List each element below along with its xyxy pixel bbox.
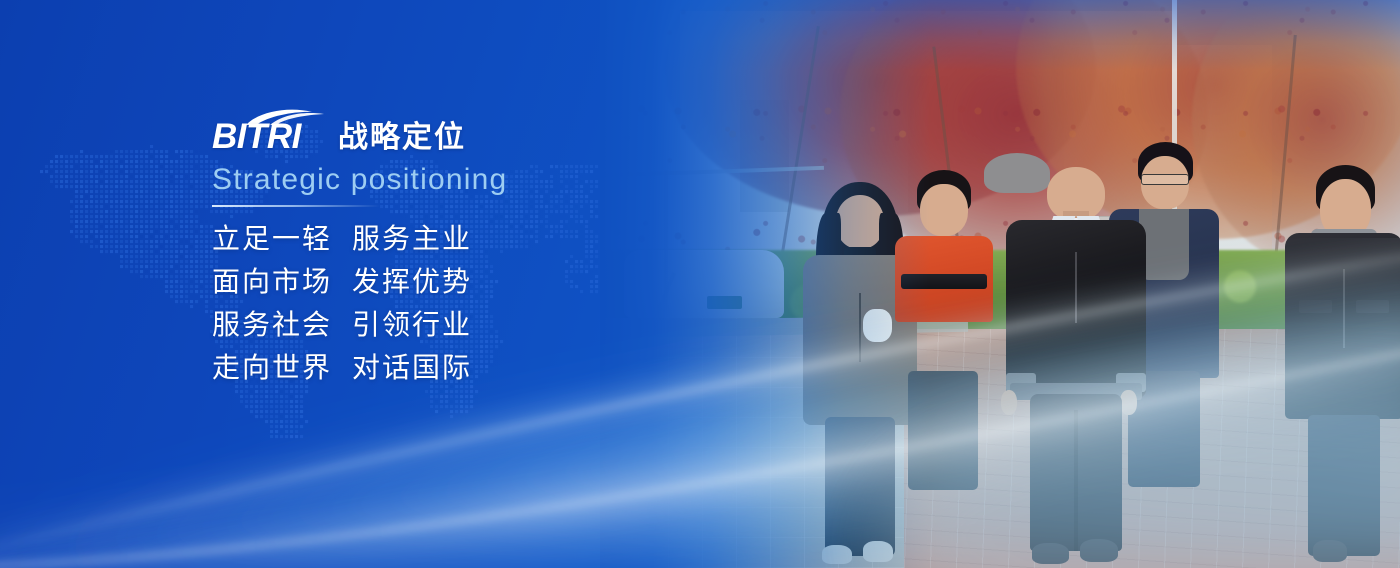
slogan-left: 立足一轻: [212, 225, 352, 253]
headline-content: BITRI 战略定位 Strategic positioning 立足一轻 服务…: [212, 108, 642, 382]
brand-lockup: BITRI 战略定位: [212, 108, 642, 154]
slogan-left: 服务社会: [212, 311, 352, 339]
slogan-right: 服务主业: [352, 225, 472, 253]
slogan-right: 对话国际: [352, 354, 472, 382]
slogan-right: 发挥优势: [352, 268, 472, 296]
slogan-line: 面向市场 发挥优势: [212, 268, 642, 296]
brand-subtitle-en: Strategic positioning: [212, 164, 642, 196]
bitri-logo: BITRI: [212, 110, 326, 154]
slogan-line: 走向世界 对话国际: [212, 354, 642, 382]
title-divider: [212, 205, 380, 207]
bitri-wordmark: BITRI: [212, 119, 301, 154]
slogan-list: 立足一轻 服务主业 面向市场 发挥优势 服务社会 引领行业 走向世界 对话国际: [212, 225, 642, 382]
slogan-line: 服务社会 引领行业: [212, 311, 642, 339]
slogan-right: 引领行业: [352, 311, 472, 339]
brand-title-cn: 战略定位: [338, 123, 466, 154]
slogan-left: 走向世界: [212, 354, 352, 382]
strategic-positioning-banner: BITRI 战略定位 Strategic positioning 立足一轻 服务…: [0, 0, 1400, 568]
photo-left-fade: [600, 0, 930, 568]
slogan-line: 立足一轻 服务主业: [212, 225, 642, 253]
slogan-left: 面向市场: [212, 268, 352, 296]
campus-photo: [600, 0, 1400, 568]
